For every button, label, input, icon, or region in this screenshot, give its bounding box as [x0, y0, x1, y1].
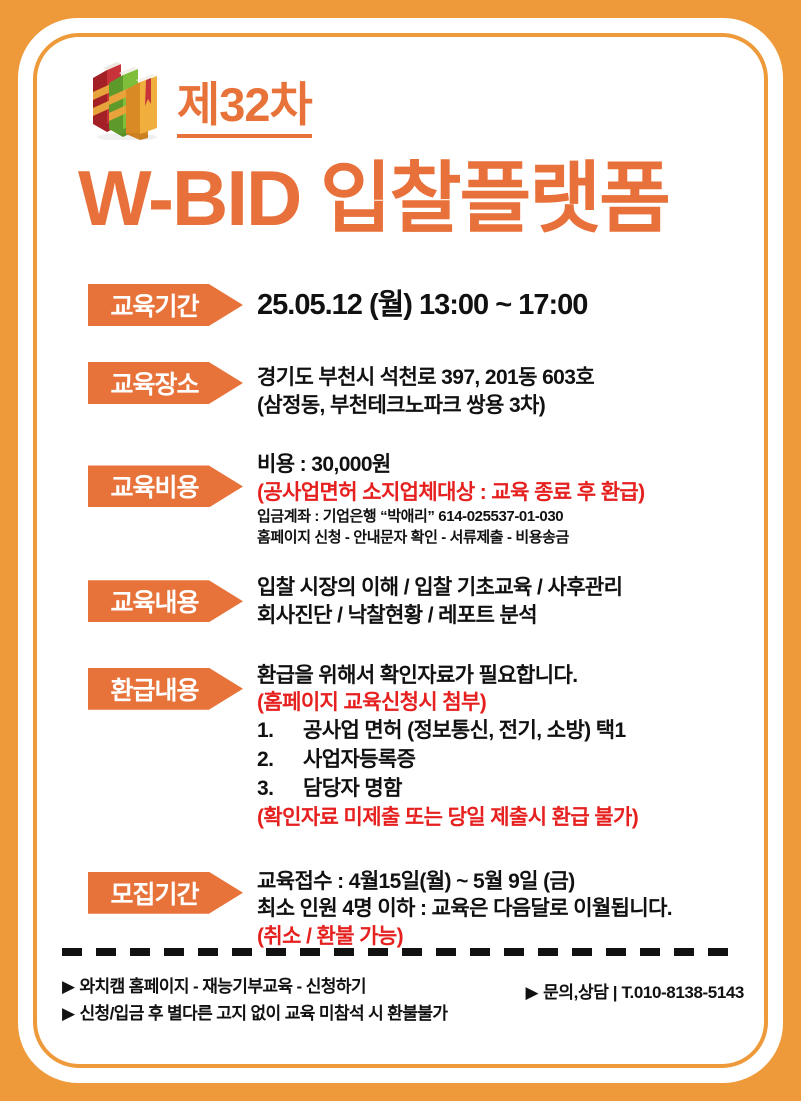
fee-bank-account: 입금계좌 : 기업은행 “박애리” 614-025537-01-030	[257, 507, 728, 528]
poster-footer: ▶와치캠 홈페이지 - 재능기부교육 - 신청하기 ▶신청/입금 후 별다른 고…	[62, 976, 744, 1025]
refund-doc-item-2-number: 2.	[257, 746, 303, 775]
refund-doc-item-3-number: 3.	[257, 775, 303, 804]
info-row-curriculum: 교육내용 입찰 시장의 이해 / 입찰 기초교육 / 사후관리 회사진단 / 낙…	[88, 574, 728, 629]
issue-number-underline	[177, 134, 312, 138]
refund-doc-item-2: 2.사업자등록증	[257, 746, 728, 775]
triangle-right-icon: ▶	[525, 983, 538, 1003]
refund-intro: 환급을 위해서 확인자료가 필요합니다.	[257, 662, 728, 690]
row-label-curriculum: 교육내용	[88, 580, 243, 622]
info-row-fee: 교육비용 비용 : 30,000원 (공사업면허 소지업체대상 : 교육 종료 …	[88, 451, 728, 548]
footer-divider	[62, 948, 740, 956]
info-row-place: 교육장소 경기도 부천시 석천로 397, 201동 603호 (삼정동, 부천…	[88, 362, 728, 419]
row-label-recruitment: 모집기간	[88, 872, 243, 914]
row-label-curriculum-text: 교육내용	[88, 580, 243, 622]
refund-doc-item-1-number: 1.	[257, 717, 303, 746]
recruitment-min-headcount: 최소 인원 4명 이하 : 교육은 다음달로 이월됩니다.	[257, 895, 728, 923]
row-label-place-text: 교육장소	[88, 362, 243, 404]
row-label-refund: 환급내용	[88, 668, 243, 710]
period-datetime: 25.05.12 (월) 13:00 ~ 17:00	[257, 288, 728, 323]
info-rows: 교육기간 25.05.12 (월) 13:00 ~ 17:00 교육장소 경기도…	[88, 284, 728, 951]
refund-doc-item-1: 1.공사업 면허 (정보통신, 전기, 소방) 택1	[257, 717, 728, 746]
footer-contact-text: 문의,상담 | T.010-8138-5143	[543, 983, 744, 1002]
footer-notes: ▶와치캠 홈페이지 - 재능기부교육 - 신청하기 ▶신청/입금 후 별다른 고…	[62, 976, 447, 1025]
refund-doc-item-1-text: 공사업 면허 (정보통신, 전기, 소방) 택1	[303, 719, 626, 742]
row-body-period: 25.05.12 (월) 13:00 ~ 17:00	[257, 284, 728, 323]
place-address-line1: 경기도 부천시 석천로 397, 201동 603호	[257, 364, 728, 392]
refund-attach-note: (홈페이지 교육신청시 첨부)	[257, 689, 728, 717]
curriculum-line1: 입찰 시장의 이해 / 입찰 기초교육 / 사후관리	[257, 574, 728, 602]
fee-refund-note: (공사업면허 소지업체대상 : 교육 종료 후 환급)	[257, 479, 728, 507]
row-label-recruitment-text: 모집기간	[88, 872, 243, 914]
curriculum-line2: 회사진단 / 낙찰현황 / 레포트 분석	[257, 602, 728, 630]
row-label-fee-text: 교육비용	[88, 465, 243, 507]
fee-process-steps: 홈페이지 신청 - 안내문자 확인 - 서류제출 - 비용송금	[257, 528, 728, 549]
issue-number: 제32차	[177, 81, 312, 128]
place-address-line2: (삼정동, 부천테크노파크 쌍용 3차)	[257, 392, 728, 420]
row-label-refund-text: 환급내용	[88, 668, 243, 710]
footer-contact: ▶문의,상담 | T.010-8138-5143	[525, 976, 744, 1003]
info-row-refund: 환급내용 환급을 위해서 확인자료가 필요합니다. (홈페이지 교육신청시 첨부…	[88, 662, 728, 832]
row-label-period: 교육기간	[88, 284, 243, 326]
fee-amount: 비용 : 30,000원	[257, 451, 728, 479]
triangle-right-icon: ▶	[62, 1003, 74, 1024]
footer-note-1-text: 와치캠 홈페이지 - 재능기부교육 - 신청하기	[79, 977, 365, 996]
refund-doc-item-2-text: 사업자등록증	[303, 748, 415, 771]
poster-content: 제32차 W-BID 입찰플랫폼 교육기간 25.05.12 (월) 13:00…	[0, 0, 801, 1101]
recruitment-dates: 교육접수 : 4월15일(월) ~ 5월 9일 (금)	[257, 868, 728, 896]
recruitment-cancel-note: (취소 / 환불 가능)	[257, 923, 728, 951]
footer-note-1: ▶와치캠 홈페이지 - 재능기부교육 - 신청하기	[62, 976, 447, 997]
footer-note-2-text: 신청/입금 후 별다른 고지 없이 교육 미참석 시 환불불가	[79, 1004, 447, 1023]
info-row-period: 교육기간 25.05.12 (월) 13:00 ~ 17:00	[88, 284, 728, 326]
info-row-recruitment: 모집기간 교육접수 : 4월15일(월) ~ 5월 9일 (금) 최소 인원 4…	[88, 868, 728, 951]
footer-note-2: ▶신청/입금 후 별다른 고지 없이 교육 미참석 시 환불불가	[62, 1003, 447, 1024]
stack-of-books-icon	[85, 52, 163, 140]
refund-denial-note: (확인자료 미제출 또는 당일 제출시 환급 불가)	[257, 804, 728, 832]
page-title: W-BID 입찰플랫폼	[78, 158, 669, 240]
refund-doc-item-3-text: 담당자 명함	[303, 777, 402, 800]
refund-doc-item-3: 3.담당자 명함	[257, 775, 728, 804]
poster-root: 제32차 W-BID 입찰플랫폼 교육기간 25.05.12 (월) 13:00…	[0, 0, 801, 1101]
row-label-period-text: 교육기간	[88, 284, 243, 326]
triangle-right-icon: ▶	[62, 976, 74, 997]
row-body-place: 경기도 부천시 석천로 397, 201동 603호 (삼정동, 부천테크노파크…	[257, 362, 728, 419]
row-body-refund: 환급을 위해서 확인자료가 필요합니다. (홈페이지 교육신청시 첨부) 1.공…	[257, 662, 728, 832]
row-label-place: 교육장소	[88, 362, 243, 404]
row-body-recruitment: 교육접수 : 4월15일(월) ~ 5월 9일 (금) 최소 인원 4명 이하 …	[257, 868, 728, 951]
row-body-fee: 비용 : 30,000원 (공사업면허 소지업체대상 : 교육 종료 후 환급)…	[257, 451, 728, 548]
row-label-fee: 교육비용	[88, 465, 243, 507]
row-body-curriculum: 입찰 시장의 이해 / 입찰 기초교육 / 사후관리 회사진단 / 낙찰현황 /…	[257, 574, 728, 629]
issue-number-block: 제32차	[177, 81, 312, 140]
poster-header: 제32차	[85, 52, 312, 140]
